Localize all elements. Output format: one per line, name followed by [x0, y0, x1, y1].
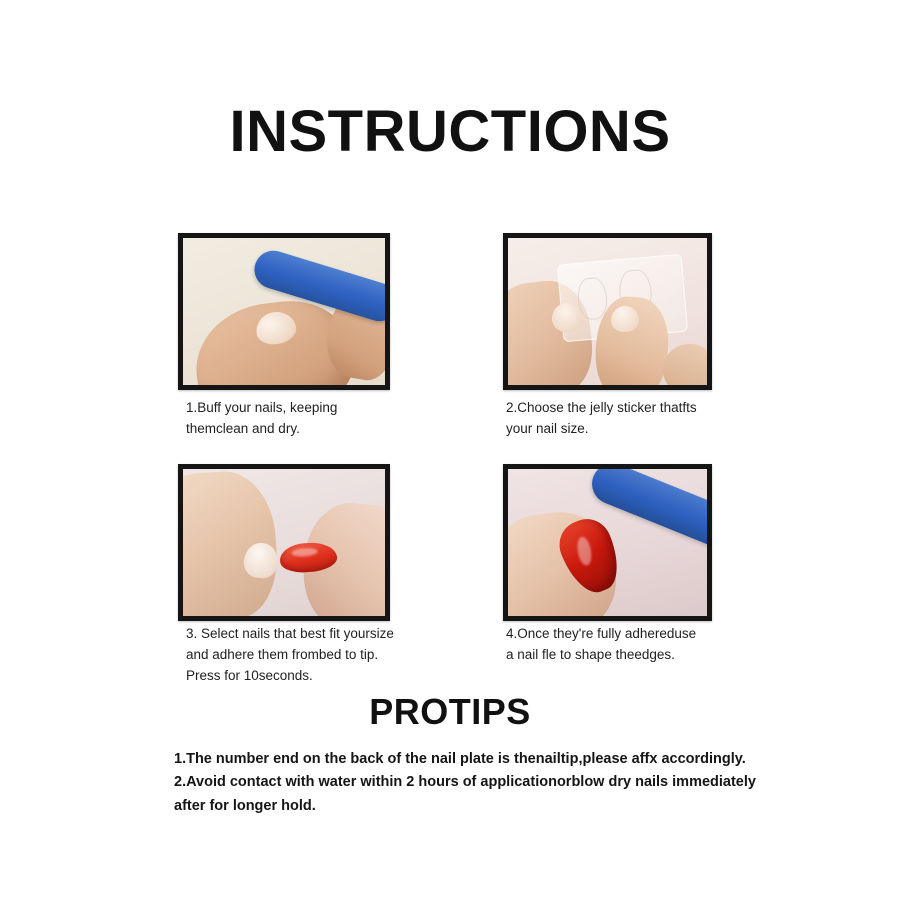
step-item-4 [503, 464, 712, 621]
step-caption-3: 3. Select nails that best fit yoursize a… [186, 624, 456, 687]
step-photo-frame-3 [178, 464, 390, 621]
protips-title: PROTIPS [0, 694, 900, 730]
step-caption-4: 4.Once they're fully adhereduse a nail f… [506, 624, 766, 666]
step-caption-1: 1.Buff your nails, keeping themclean and… [186, 398, 446, 440]
step-item-2 [503, 233, 712, 390]
right-nail-shape [611, 306, 639, 332]
left-hand-shape [183, 469, 281, 616]
step-item-1 [178, 233, 390, 390]
step-caption-2: 2.Choose the jelly sticker thatfts your … [506, 398, 766, 440]
step-photo-3 [183, 469, 385, 616]
step-photo-2 [508, 238, 707, 385]
pinky-shape [663, 344, 707, 385]
instructions-page: INSTRUCTIONS [0, 0, 900, 900]
step-photo-frame-2 [503, 233, 712, 390]
step-photo-4 [508, 469, 707, 616]
step-photo-frame-1 [178, 233, 390, 390]
step-photo-1 [183, 238, 385, 385]
step-item-3 [178, 464, 390, 621]
step-photo-frame-4 [503, 464, 712, 621]
protips-body: 1.The number end on the back of the nail… [174, 748, 834, 818]
